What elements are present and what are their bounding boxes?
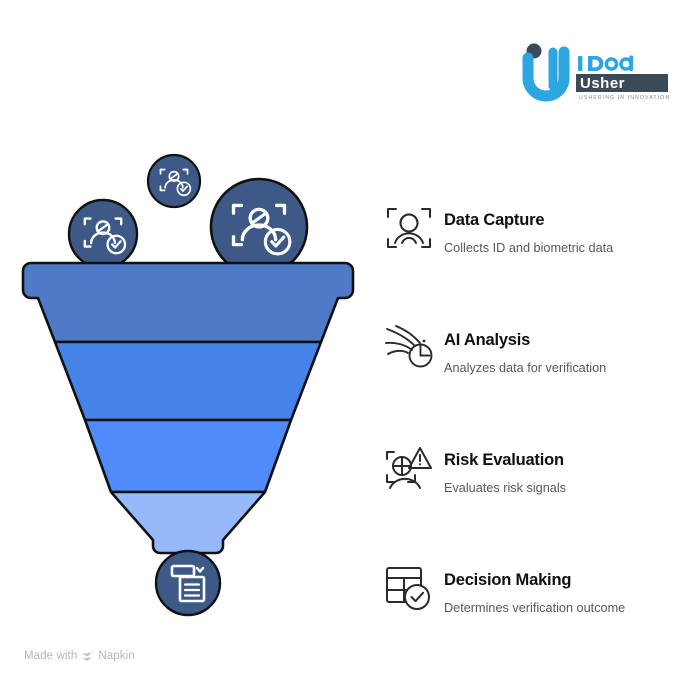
- step-title: Data Capture: [444, 211, 544, 230]
- funnel-band-data-capture: [23, 263, 353, 342]
- diagram-canvas: Usher USHERING IN INNOVATION: [0, 0, 697, 684]
- step-item-risk-evaluation[interactable]: Risk Evaluation Evaluates risk signals: [380, 435, 697, 525]
- brand-logo: Usher USHERING IN INNOVATION: [520, 42, 670, 104]
- footer-tool-label: Napkin: [98, 650, 134, 662]
- risk-warning-scan-icon: [382, 441, 436, 495]
- logo-wordmark-idea: [578, 56, 633, 72]
- face-scan-icon: [382, 201, 436, 255]
- logo-tagline: USHERING IN INNOVATION: [579, 95, 670, 101]
- footer-made-with-label: Made with: [24, 650, 77, 662]
- funnel-band-risk-evaluation: [85, 420, 291, 492]
- funnel-badge-top-left: [69, 200, 137, 268]
- steps-list: Data Capture Collects ID and biometric d…: [380, 195, 697, 635]
- logo-wordmark-usher: Usher: [580, 75, 625, 92]
- funnel-badge-top-center: [148, 155, 200, 207]
- step-description: Evaluates risk signals: [444, 481, 566, 495]
- step-description: Collects ID and biometric data: [444, 241, 613, 255]
- ai-swoosh-chart-icon: [382, 321, 436, 375]
- step-item-data-capture[interactable]: Data Capture Collects ID and biometric d…: [380, 195, 697, 285]
- svg-text:USHERING IN INNOVATION: USHERING IN INNOVATION: [579, 95, 670, 101]
- footer-credit[interactable]: Made with Napkin: [24, 648, 135, 664]
- step-title: Decision Making: [444, 571, 571, 590]
- funnel-band-decision-making: [111, 492, 265, 553]
- funnel-badge-top-right: [211, 179, 307, 275]
- step-title: Risk Evaluation: [444, 451, 564, 470]
- verification-funnel: [0, 140, 380, 630]
- table-check-icon: [382, 561, 436, 615]
- step-description: Analyzes data for verification: [444, 361, 606, 375]
- funnel-band-ai-analysis: [55, 342, 321, 420]
- step-item-decision-making[interactable]: Decision Making Determines verification …: [380, 555, 697, 645]
- step-item-ai-analysis[interactable]: AI Analysis Analyzes data for verificati…: [380, 315, 697, 405]
- step-description: Determines verification outcome: [444, 601, 625, 615]
- step-title: AI Analysis: [444, 331, 530, 350]
- logo-u-icon: [528, 52, 564, 96]
- napkin-logo-icon: [81, 651, 94, 664]
- svg-text:Usher: Usher: [580, 75, 625, 92]
- funnel-badge-bottom-center: [156, 551, 220, 615]
